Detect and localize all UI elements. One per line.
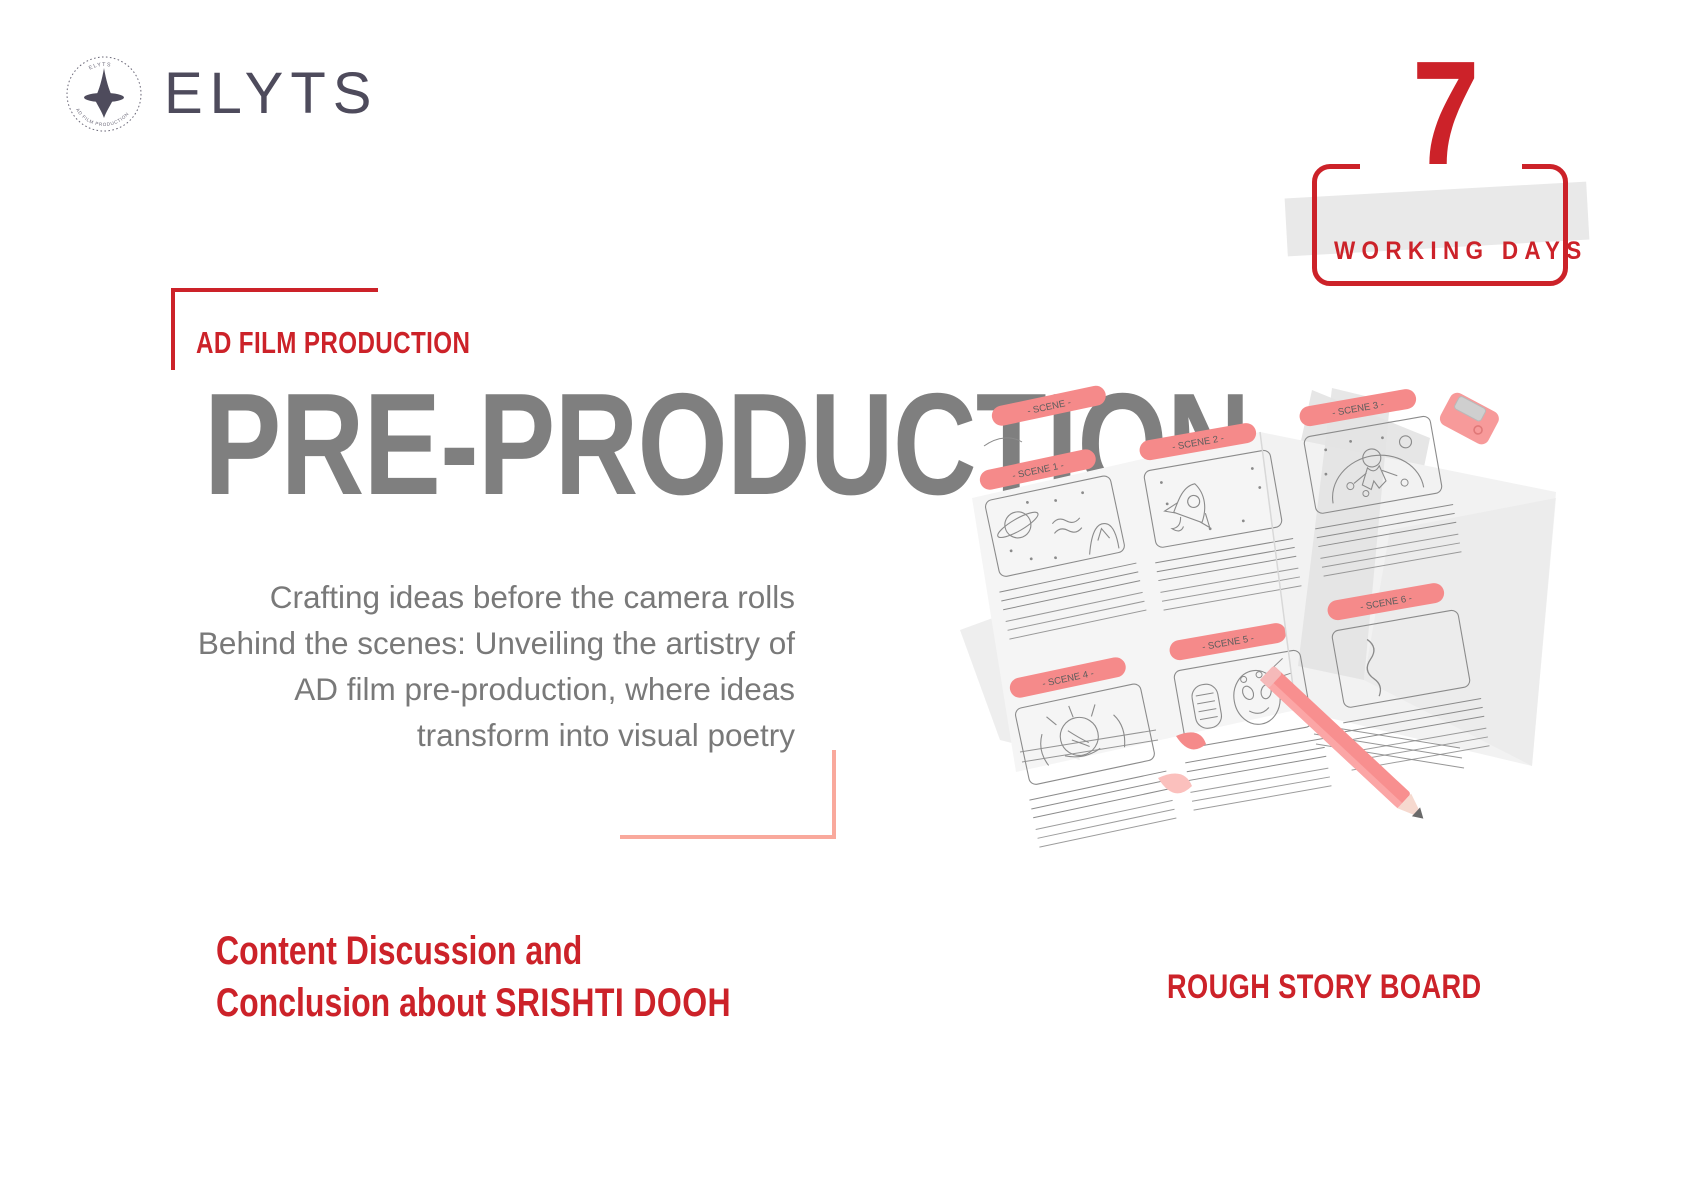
brand-wordmark: ELYTS <box>164 65 378 123</box>
footer-line-1: Content Discussion and <box>216 925 712 977</box>
kicker-text: AD FILM PRODUCTION <box>196 325 470 361</box>
days-label: WORKING DAYS <box>1334 237 1588 266</box>
scene-label-extra: - SCENE - <box>990 384 1108 428</box>
footer-left-copy: Content Discussion and Conclusion about … <box>216 925 836 1029</box>
poster-canvas: ELYTS AD FILM PRODUCTION ELYTS 7 WORKING… <box>0 0 1684 1191</box>
svg-text:ELYTS: ELYTS <box>88 62 112 72</box>
lede-paragraph: Crafting ideas before the camera rolls B… <box>190 575 795 759</box>
footer-line-2-prefix: Conclusion about <box>216 981 495 1025</box>
footer-client-name: SRISHTI DOOH <box>495 981 731 1025</box>
eraser-shavings <box>1158 732 1206 793</box>
days-number: 7 <box>1412 40 1476 188</box>
footer-line-2: Conclusion about SRISHTI DOOH <box>216 977 712 1029</box>
rough-storyboard-illustration: - SCENE - - SCENE 1 - <box>960 380 1580 850</box>
illustration-caption: ROUGH STORY BOARD <box>1167 968 1482 1007</box>
pencil-sharpener <box>1437 390 1502 447</box>
lede-corner-bottom-right <box>620 750 836 839</box>
spinning-top-icon: ELYTS AD FILM PRODUCTION <box>62 52 146 136</box>
brand-logo: ELYTS AD FILM PRODUCTION ELYTS <box>62 52 378 136</box>
working-days-badge: 7 WORKING DAYS <box>1290 40 1610 270</box>
